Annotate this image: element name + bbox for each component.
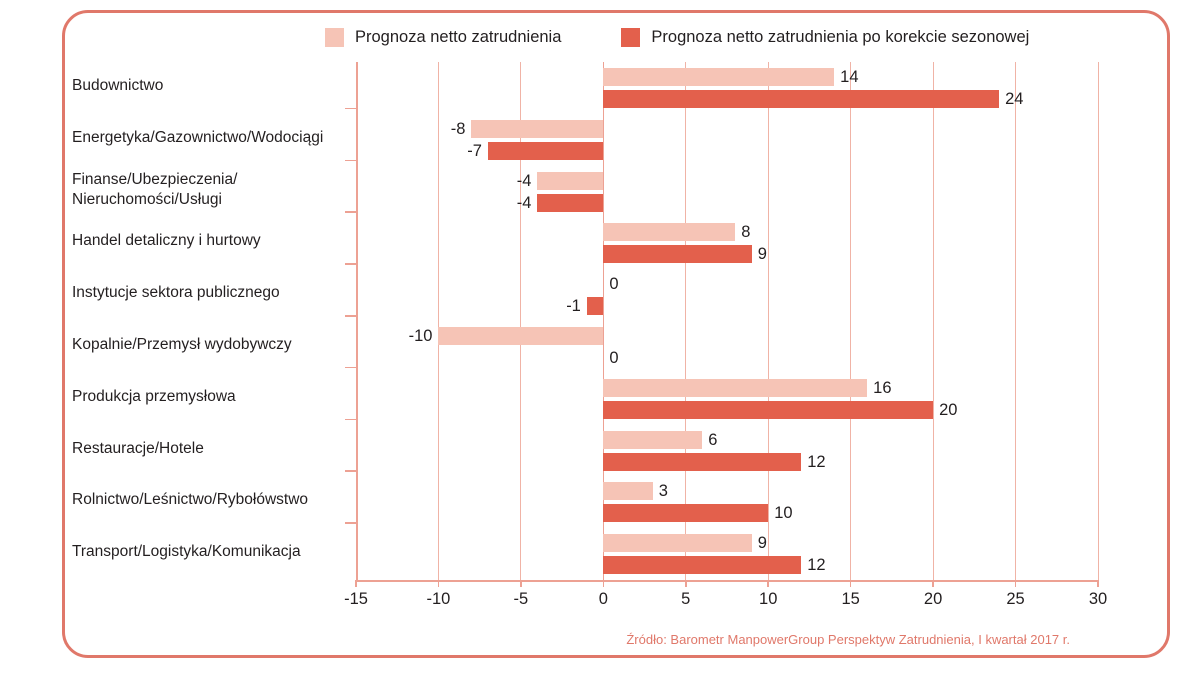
legend-label-forecast-seasonally-adjusted: Prognoza netto zatrudnienia po korekcie … [651, 28, 1029, 47]
chart-plot-area: BudownictwoEnergetyka/Gazownictwo/Wodoci… [356, 62, 1098, 580]
y-axis-tick-7 [345, 419, 356, 421]
bar-value-label-7-series-1: 16 [873, 379, 891, 397]
bar-value-label-3-series-2: -4 [517, 194, 532, 212]
bar-value-label-8-series-2: 12 [807, 453, 825, 471]
bar-value-label-5-series-2: -1 [566, 297, 581, 315]
bar-1-series-1 [603, 68, 834, 86]
gridline-10 [768, 62, 769, 580]
category-label-4: Handel detaliczny i hurtowy [72, 231, 352, 252]
bar-3-series-1 [537, 172, 603, 190]
x-axis-tick--5 [520, 580, 522, 587]
x-axis-tick-label-0: 0 [599, 590, 608, 609]
x-axis-tick-label-20: 20 [924, 590, 942, 609]
bar-value-label-6-series-1: -10 [409, 327, 433, 345]
bar-1-series-2 [603, 90, 999, 108]
category-label-6: Kopalnie/Przemysł wydobywczy [72, 335, 352, 356]
gridline--5 [520, 62, 521, 580]
x-axis-tick--10 [438, 580, 440, 587]
x-axis-tick-label-5: 5 [681, 590, 690, 609]
chart-legend: Prognoza netto zatrudnienia Prognoza net… [325, 25, 1029, 49]
gridline--10 [438, 62, 439, 580]
bar-8-series-2 [603, 453, 801, 471]
bar-value-label-1-series-2: 24 [1005, 90, 1023, 108]
x-axis-line [356, 580, 1098, 582]
bar-value-label-9-series-1: 3 [659, 482, 668, 500]
bar-8-series-1 [603, 431, 702, 449]
x-axis-tick-label-10: 10 [759, 590, 777, 609]
bar-value-label-3-series-1: -4 [517, 172, 532, 190]
bar-10-series-2 [603, 556, 801, 574]
gridline-0 [603, 62, 604, 580]
x-axis-tick-15 [850, 580, 852, 587]
bar-3-series-2 [537, 194, 603, 212]
bar-value-label-4-series-1: 8 [741, 223, 750, 241]
y-axis-line [356, 62, 358, 580]
bar-value-label-4-series-2: 9 [758, 245, 767, 263]
bar-6-series-1 [438, 327, 603, 345]
x-axis-tick-label--5: -5 [514, 590, 529, 609]
bar-value-label-2-series-2: -7 [467, 142, 482, 160]
bar-value-label-8-series-1: 6 [708, 431, 717, 449]
bar-7-series-2 [603, 401, 933, 419]
x-axis-tick-10 [767, 580, 769, 587]
x-axis-tick-5 [685, 580, 687, 587]
x-axis-tick-label--10: -10 [427, 590, 451, 609]
category-label-1: Budownictwo [72, 76, 352, 97]
legend-swatch-dark-icon [621, 28, 640, 47]
bar-4-series-1 [603, 223, 735, 241]
category-label-3: Finanse/Ubezpieczenia/ Nieruchomości/Usł… [72, 170, 352, 211]
bar-10-series-1 [603, 534, 751, 552]
bar-value-label-9-series-2: 10 [774, 504, 792, 522]
bar-value-label-7-series-2: 20 [939, 401, 957, 419]
legend-item-forecast: Prognoza netto zatrudnienia [325, 28, 561, 47]
gridline-15 [850, 62, 851, 580]
x-axis-tick-label--15: -15 [344, 590, 368, 609]
y-axis-tick-4 [345, 263, 356, 265]
x-axis-tick-0 [603, 580, 605, 587]
category-label-7: Produkcja przemysłowa [72, 387, 352, 408]
y-axis-tick-6 [345, 367, 356, 369]
category-label-5: Instytucje sektora publicznego [72, 283, 352, 304]
y-axis-tick-1 [345, 108, 356, 110]
gridline-20 [933, 62, 934, 580]
x-axis-tick-label-30: 30 [1089, 590, 1107, 609]
bar-2-series-1 [471, 120, 603, 138]
source-note: Źródło: Barometr ManpowerGroup Perspekty… [0, 632, 1098, 647]
legend-label-forecast: Prognoza netto zatrudnienia [355, 28, 561, 47]
gridline-30 [1098, 62, 1099, 580]
x-axis-tick-20 [932, 580, 934, 587]
legend-swatch-light-icon [325, 28, 344, 47]
x-axis-tick-label-15: 15 [841, 590, 859, 609]
x-axis-tick-25 [1015, 580, 1017, 587]
bar-2-series-2 [488, 142, 603, 160]
y-axis-tick-8 [345, 470, 356, 472]
bar-9-series-1 [603, 482, 652, 500]
x-axis-tick--15 [355, 580, 357, 587]
bar-value-label-6-series-2: 0 [609, 349, 618, 367]
gridline-5 [685, 62, 686, 580]
bar-value-label-2-series-1: -8 [451, 120, 466, 138]
bar-9-series-2 [603, 504, 768, 522]
category-label-10: Transport/Logistyka/Komunikacja [72, 542, 352, 563]
bar-value-label-5-series-1: 0 [609, 275, 618, 293]
category-label-9: Rolnictwo/Leśnictwo/Rybołówstwo [72, 490, 352, 511]
bar-value-label-10-series-1: 9 [758, 534, 767, 552]
bar-4-series-2 [603, 245, 751, 263]
bar-value-label-10-series-2: 12 [807, 556, 825, 574]
category-label-layer: BudownictwoEnergetyka/Gazownictwo/Wodoci… [60, 62, 346, 580]
bar-value-label-1-series-1: 14 [840, 68, 858, 86]
bar-5-series-2 [587, 297, 603, 315]
y-axis-tick-2 [345, 160, 356, 162]
category-label-8: Restauracje/Hotele [72, 439, 352, 460]
bar-7-series-1 [603, 379, 867, 397]
y-axis-tick-9 [345, 522, 356, 524]
y-axis-tick-5 [345, 315, 356, 317]
category-label-2: Energetyka/Gazownictwo/Wodociągi [72, 128, 352, 149]
y-axis-tick-3 [345, 211, 356, 213]
x-axis-tick-30 [1097, 580, 1099, 587]
x-axis-tick-label-25: 25 [1006, 590, 1024, 609]
legend-item-forecast-seasonally-adjusted: Prognoza netto zatrudnienia po korekcie … [621, 28, 1029, 47]
gridline-25 [1015, 62, 1016, 580]
